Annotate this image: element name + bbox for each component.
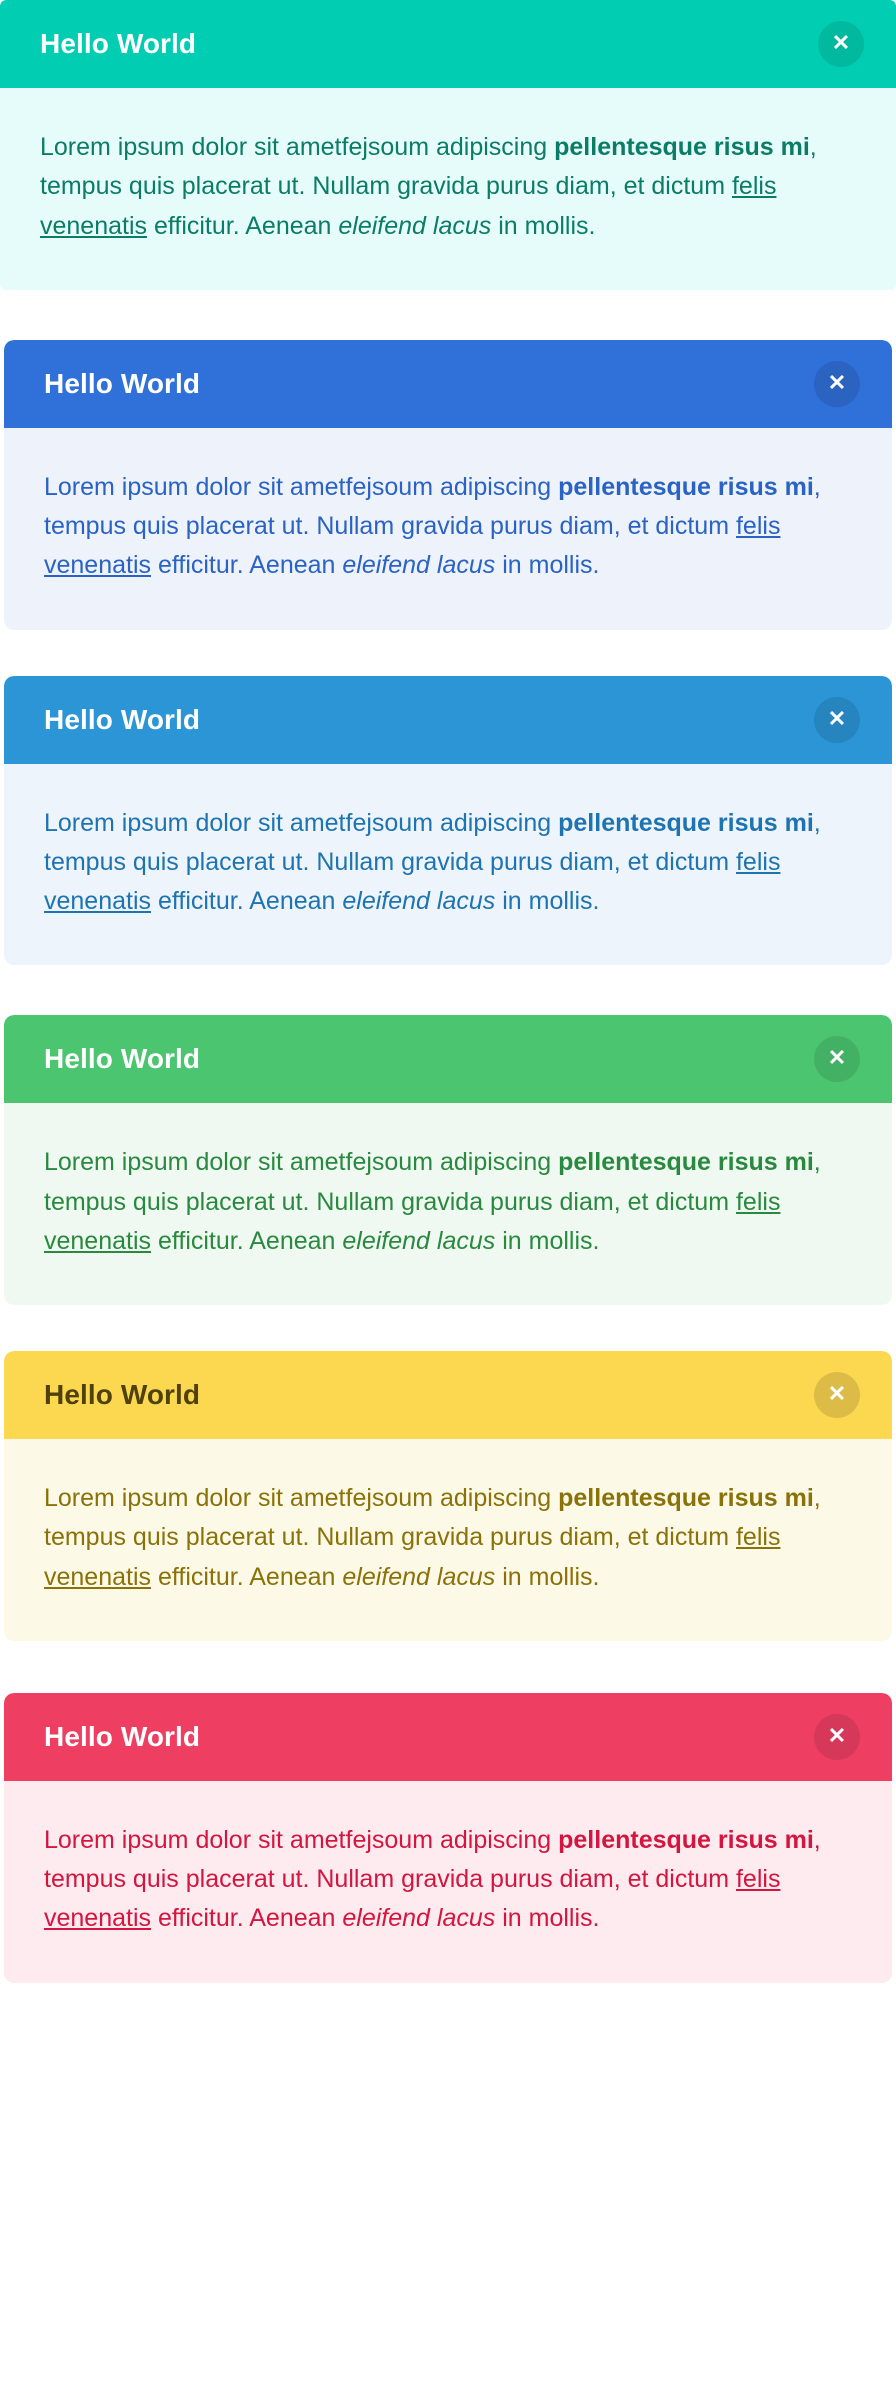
alert-card-body: Lorem ipsum dolor sit ametfejsoum adipis… bbox=[4, 428, 892, 630]
alert-card-paragraph: Lorem ipsum dolor sit ametfejsoum adipis… bbox=[44, 1143, 852, 1261]
bold-text: pellentesque risus mi bbox=[558, 1826, 814, 1854]
close-icon[interactable]: ✕ bbox=[814, 361, 860, 407]
alert-card-title: Hello World bbox=[44, 706, 814, 734]
close-icon[interactable]: ✕ bbox=[814, 1372, 860, 1418]
text-segment: in mollis. bbox=[495, 1227, 599, 1255]
card-gap bbox=[0, 1641, 896, 1693]
alert-card-paragraph: Lorem ipsum dolor sit ametfejsoum adipis… bbox=[40, 128, 856, 246]
bold-text: pellentesque risus mi bbox=[558, 809, 814, 837]
text-segment: efficitur. Aenean bbox=[151, 551, 342, 579]
italic-text: eleifend lacus bbox=[342, 1563, 495, 1591]
text-segment: efficitur. Aenean bbox=[151, 1563, 342, 1591]
close-glyph: ✕ bbox=[828, 372, 846, 394]
text-segment: efficitur. Aenean bbox=[151, 1904, 342, 1932]
close-icon[interactable]: ✕ bbox=[818, 21, 864, 67]
alert-card-green: Hello World ✕ Lorem ipsum dolor sit amet… bbox=[4, 1015, 892, 1305]
alert-card-yellow: Hello World ✕ Lorem ipsum dolor sit amet… bbox=[4, 1351, 892, 1641]
italic-text: eleifend lacus bbox=[342, 1227, 495, 1255]
alert-card-info-blue: Hello World ✕ Lorem ipsum dolor sit amet… bbox=[4, 676, 892, 966]
close-icon[interactable]: ✕ bbox=[814, 1714, 860, 1760]
alert-card-body: Lorem ipsum dolor sit ametfejsoum adipis… bbox=[4, 1781, 892, 1983]
alert-card-red: Hello World ✕ Lorem ipsum dolor sit amet… bbox=[4, 1693, 892, 1983]
italic-text: eleifend lacus bbox=[342, 551, 495, 579]
alert-card-header: Hello World ✕ bbox=[4, 1693, 892, 1781]
alert-card-stack: Hello World ✕ Lorem ipsum dolor sit amet… bbox=[0, 0, 896, 1983]
alert-card-paragraph: Lorem ipsum dolor sit ametfejsoum adipis… bbox=[44, 804, 852, 922]
text-segment: in mollis. bbox=[495, 1563, 599, 1591]
card-gap bbox=[0, 630, 896, 676]
alert-card-paragraph: Lorem ipsum dolor sit ametfejsoum adipis… bbox=[44, 1821, 852, 1939]
bold-text: pellentesque risus mi bbox=[554, 133, 810, 161]
alert-card-body: Lorem ipsum dolor sit ametfejsoum adipis… bbox=[0, 88, 896, 290]
alert-card-title: Hello World bbox=[40, 30, 818, 58]
close-icon[interactable]: ✕ bbox=[814, 697, 860, 743]
italic-text: eleifend lacus bbox=[342, 1904, 495, 1932]
alert-card-body: Lorem ipsum dolor sit ametfejsoum adipis… bbox=[4, 1439, 892, 1641]
text-segment: efficitur. Aenean bbox=[147, 212, 338, 240]
text-segment: Lorem ipsum dolor sit ametfejsoum adipis… bbox=[44, 1826, 558, 1854]
close-glyph: ✕ bbox=[828, 708, 846, 730]
alert-card-header: Hello World ✕ bbox=[4, 1351, 892, 1439]
alert-card-header: Hello World ✕ bbox=[4, 340, 892, 428]
alert-card-header: Hello World ✕ bbox=[4, 1015, 892, 1103]
card-gap bbox=[0, 965, 896, 1015]
close-icon[interactable]: ✕ bbox=[814, 1036, 860, 1082]
text-segment: Lorem ipsum dolor sit ametfejsoum adipis… bbox=[44, 1148, 558, 1176]
text-segment: Lorem ipsum dolor sit ametfejsoum adipis… bbox=[44, 473, 558, 501]
close-glyph: ✕ bbox=[828, 1047, 846, 1069]
card-gap bbox=[0, 1305, 896, 1351]
close-glyph: ✕ bbox=[832, 32, 850, 54]
text-segment: in mollis. bbox=[495, 551, 599, 579]
alert-card-title: Hello World bbox=[44, 1045, 814, 1073]
card-gap bbox=[0, 290, 896, 340]
bold-text: pellentesque risus mi bbox=[558, 1484, 814, 1512]
text-segment: Lorem ipsum dolor sit ametfejsoum adipis… bbox=[40, 133, 554, 161]
alert-card-title: Hello World bbox=[44, 1381, 814, 1409]
text-segment: in mollis. bbox=[495, 887, 599, 915]
bold-text: pellentesque risus mi bbox=[558, 1148, 814, 1176]
bold-text: pellentesque risus mi bbox=[558, 473, 814, 501]
text-segment: Lorem ipsum dolor sit ametfejsoum adipis… bbox=[44, 1484, 558, 1512]
text-segment: efficitur. Aenean bbox=[151, 887, 342, 915]
alert-card-title: Hello World bbox=[44, 1723, 814, 1751]
alert-card-header: Hello World ✕ bbox=[4, 676, 892, 764]
text-segment: in mollis. bbox=[495, 1904, 599, 1932]
text-segment: Lorem ipsum dolor sit ametfejsoum adipis… bbox=[44, 809, 558, 837]
alert-card-body: Lorem ipsum dolor sit ametfejsoum adipis… bbox=[4, 1103, 892, 1305]
alert-card-teal: Hello World ✕ Lorem ipsum dolor sit amet… bbox=[0, 0, 896, 290]
close-glyph: ✕ bbox=[828, 1725, 846, 1747]
text-segment: efficitur. Aenean bbox=[151, 1227, 342, 1255]
alert-card-title: Hello World bbox=[44, 370, 814, 398]
italic-text: eleifend lacus bbox=[338, 212, 491, 240]
alert-card-primary-blue: Hello World ✕ Lorem ipsum dolor sit amet… bbox=[4, 340, 892, 630]
alert-card-header: Hello World ✕ bbox=[0, 0, 896, 88]
close-glyph: ✕ bbox=[828, 1383, 846, 1405]
alert-card-body: Lorem ipsum dolor sit ametfejsoum adipis… bbox=[4, 764, 892, 966]
text-segment: in mollis. bbox=[491, 212, 595, 240]
italic-text: eleifend lacus bbox=[342, 887, 495, 915]
alert-card-paragraph: Lorem ipsum dolor sit ametfejsoum adipis… bbox=[44, 468, 852, 586]
alert-card-paragraph: Lorem ipsum dolor sit ametfejsoum adipis… bbox=[44, 1479, 852, 1597]
